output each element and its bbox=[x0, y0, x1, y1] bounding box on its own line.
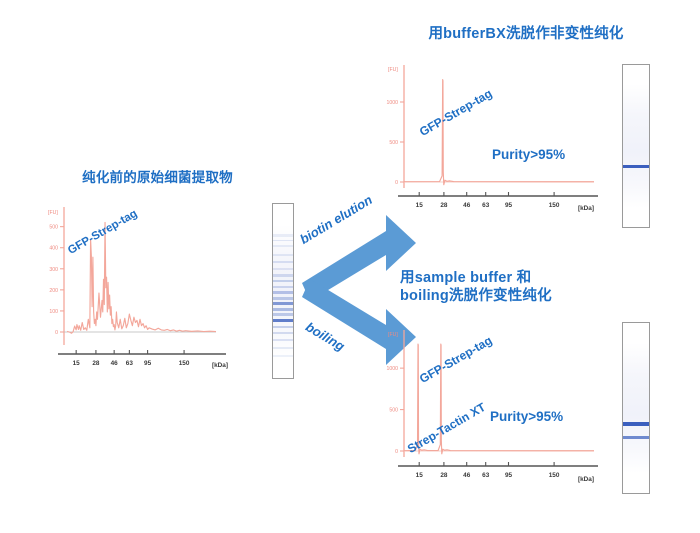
gel-band bbox=[273, 319, 293, 322]
y-axis-unit-label: [FU] bbox=[388, 332, 398, 338]
svg-text:1000: 1000 bbox=[386, 100, 398, 106]
svg-text:15: 15 bbox=[73, 360, 81, 367]
svg-text:500: 500 bbox=[49, 225, 58, 231]
crude-extract-chart: 0100200300400500 1528466395150 [FU] [kDa… bbox=[34, 202, 234, 377]
svg-text:28: 28 bbox=[92, 360, 100, 367]
gel-band bbox=[623, 436, 649, 439]
svg-text:95: 95 bbox=[144, 360, 152, 367]
gel-band bbox=[273, 261, 293, 263]
gel-band bbox=[273, 268, 293, 270]
svg-text:46: 46 bbox=[111, 360, 119, 367]
crude-extract-plot: 0100200300400500 1528466395150 [FU] [kDa… bbox=[34, 202, 234, 377]
gel-band bbox=[273, 254, 293, 256]
denaturing-elution-chart: 05001000 1528466395150 [FU] [kDa] bbox=[382, 325, 607, 490]
gel-band bbox=[273, 355, 293, 357]
bottom-title-line-1: 用sample buffer 和 bbox=[400, 270, 650, 288]
y-tick-group: 05001000 bbox=[386, 100, 404, 186]
svg-text:150: 150 bbox=[179, 360, 190, 367]
gel-band bbox=[273, 313, 293, 315]
svg-text:150: 150 bbox=[549, 472, 560, 479]
gel-band bbox=[273, 297, 293, 299]
gel-smear bbox=[623, 84, 649, 207]
gel-band bbox=[623, 422, 649, 426]
y-axis-unit-label: [FU] bbox=[48, 210, 58, 216]
svg-text:63: 63 bbox=[126, 360, 134, 367]
y-tick-group: 05001000 bbox=[386, 366, 404, 455]
svg-text:100: 100 bbox=[49, 309, 58, 315]
svg-text:0: 0 bbox=[395, 449, 398, 455]
x-tick-group: 1528466395150 bbox=[416, 192, 560, 209]
x-tick-group: 1528466395150 bbox=[73, 350, 190, 367]
native-elution-gel-lane bbox=[622, 64, 650, 228]
svg-text:400: 400 bbox=[49, 246, 58, 252]
native-elution-chart: 05001000 1528466395150 [FU] [kDa] bbox=[382, 60, 607, 215]
left-panel-title: 纯化前的原始细菌提取物 bbox=[60, 170, 255, 186]
gel-band bbox=[273, 339, 293, 341]
gel-band bbox=[273, 240, 293, 242]
svg-text:95: 95 bbox=[505, 202, 513, 209]
gel-band bbox=[273, 291, 293, 294]
denaturing-elution-plot: 05001000 1528466395150 [FU] [kDa] bbox=[382, 325, 607, 490]
svg-text:63: 63 bbox=[482, 472, 490, 479]
svg-text:200: 200 bbox=[49, 288, 58, 294]
svg-text:500: 500 bbox=[389, 408, 398, 414]
svg-text:46: 46 bbox=[463, 202, 471, 209]
svg-text:28: 28 bbox=[440, 472, 448, 479]
gel-band bbox=[273, 280, 293, 282]
svg-text:1000: 1000 bbox=[386, 366, 398, 372]
gel-band bbox=[273, 347, 293, 349]
gel-smear bbox=[623, 343, 649, 472]
y-tick-group: 0100200300400500 bbox=[49, 225, 64, 336]
gel-band bbox=[273, 332, 293, 334]
gel-band bbox=[273, 308, 293, 310]
native-elution-plot: 05001000 1528466395150 [FU] [kDa] bbox=[382, 60, 607, 215]
svg-text:0: 0 bbox=[55, 330, 58, 336]
svg-text:150: 150 bbox=[549, 202, 560, 209]
svg-text:28: 28 bbox=[440, 202, 448, 209]
denaturing-elution-gel-lane bbox=[622, 322, 650, 494]
gel-band bbox=[273, 326, 293, 328]
svg-text:46: 46 bbox=[463, 472, 471, 479]
bottom-title-line-2: boiling洗脱作变性纯化 bbox=[400, 288, 650, 306]
gel-band bbox=[273, 302, 293, 305]
svg-text:63: 63 bbox=[482, 202, 490, 209]
svg-text:95: 95 bbox=[505, 472, 513, 479]
gel-band bbox=[273, 274, 293, 276]
x-axis-unit-label: [kDa] bbox=[578, 476, 594, 483]
svg-text:500: 500 bbox=[389, 140, 398, 146]
gel-band bbox=[273, 234, 293, 236]
x-axis-unit-label: [kDa] bbox=[212, 362, 228, 369]
gel-band bbox=[623, 165, 649, 169]
bottom-right-purity-label: Purity>95% bbox=[490, 409, 563, 424]
svg-text:300: 300 bbox=[49, 267, 58, 273]
x-axis-unit-label: [kDa] bbox=[578, 205, 594, 212]
svg-text:0: 0 bbox=[395, 180, 398, 186]
top-right-purity-label: Purity>95% bbox=[492, 147, 565, 162]
x-tick-group: 1528466395150 bbox=[416, 462, 560, 479]
gel-band bbox=[273, 286, 293, 288]
bottom-right-panel-title: 用sample buffer 和 boiling洗脱作变性纯化 bbox=[400, 270, 650, 305]
svg-text:15: 15 bbox=[416, 202, 424, 209]
y-axis-unit-label: [FU] bbox=[388, 67, 398, 73]
gel-band bbox=[273, 245, 293, 247]
top-right-panel-title: 用bufferBX洗脱作非变性纯化 bbox=[392, 26, 660, 44]
crude-extract-gel-lane bbox=[272, 203, 294, 379]
svg-text:15: 15 bbox=[416, 472, 424, 479]
